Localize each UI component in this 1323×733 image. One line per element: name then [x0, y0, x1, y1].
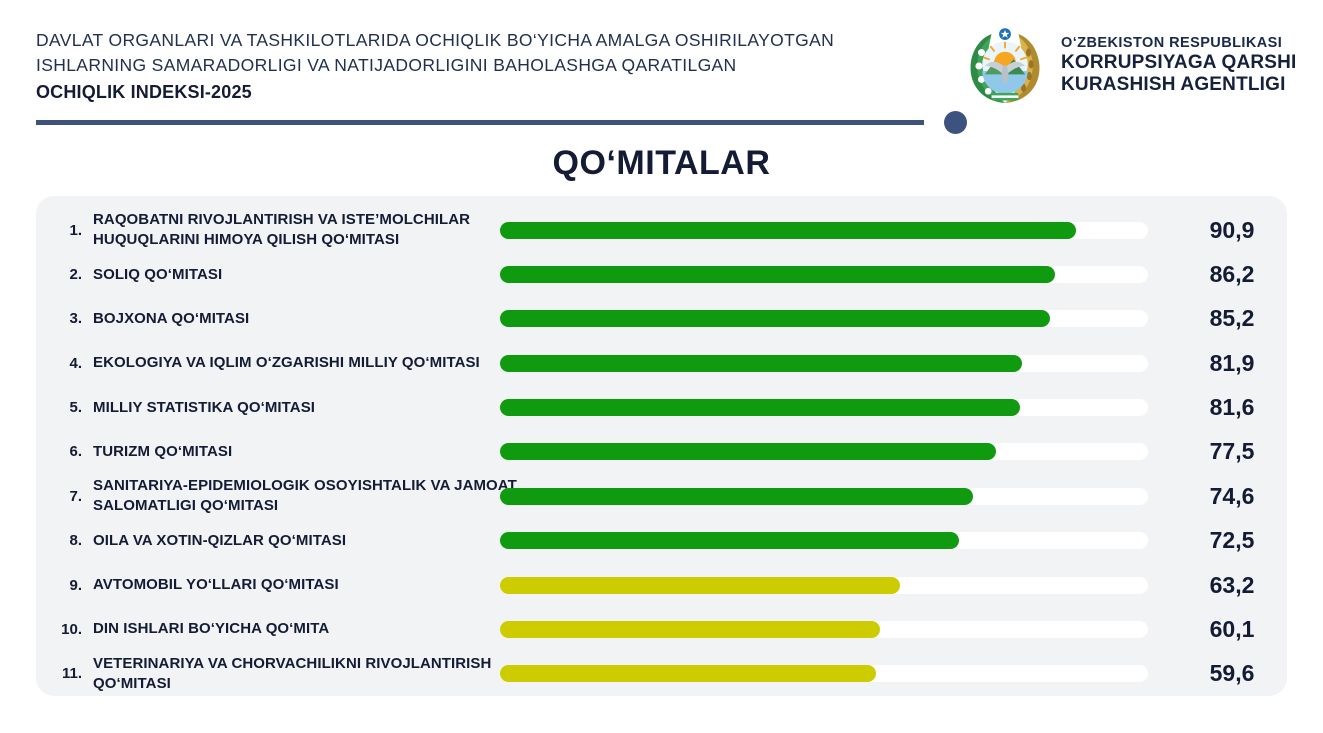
row-organization-label: TURIZM QO‘MITASI: [93, 442, 523, 462]
row-organization-label: MILLIY STATISTIKA QO‘MITASI: [93, 398, 523, 418]
row-bar-fill: [500, 488, 973, 505]
row-bar-track: [500, 577, 1148, 594]
row-score-value: 85,2: [1184, 305, 1280, 332]
header-line-3: OCHIQLIK INDEKSI-2025: [36, 80, 936, 105]
row-score-value: 77,5: [1184, 438, 1280, 465]
row-bar-track: [500, 621, 1148, 638]
row-bar-fill: [500, 222, 1076, 239]
ranking-row: 7.SANITARIYA-EPIDEMIOLOGIK OSOYISHTALIK …: [36, 474, 1287, 518]
row-score-value: 72,5: [1184, 527, 1280, 554]
ranking-panel: 1.RAQOBATNI RIVOJLANTIRISH VA ISTE’MOLCH…: [36, 196, 1287, 696]
row-bar-fill: [500, 532, 959, 549]
row-organization-label: EKOLOGIYA VA IQLIM O‘ZGARISHI MILLIY QO‘…: [93, 353, 523, 373]
ranking-row: 8.OILA VA XOTIN-QIZLAR QO‘MITASI72,5: [36, 519, 1287, 563]
agency-line-3: KURASHISH AGENTLIGI: [1061, 74, 1297, 96]
row-organization-label: DIN ISHLARI BO‘YICHA QO‘MITA: [93, 619, 523, 639]
ranking-row: 6.TURIZM QO‘MITASI77,5: [36, 430, 1287, 474]
page-title: QO‘MITALAR: [0, 144, 1323, 183]
agency-line-1: O‘ZBEKISTON RESPUBLIKASI: [1061, 35, 1297, 52]
row-organization-label: BOJXONA QO‘MITASI: [93, 309, 523, 329]
row-score-value: 81,9: [1184, 350, 1280, 377]
ranking-row: 2.SOLIQ QO‘MITASI86,2: [36, 252, 1287, 296]
row-bar-fill: [500, 399, 1020, 416]
row-bar-track: [500, 310, 1148, 327]
row-score-value: 63,2: [1184, 572, 1280, 599]
row-rank-number: 4.: [42, 355, 82, 372]
row-score-value: 74,6: [1184, 483, 1280, 510]
ranking-row: 9.AVTOMOBIL YO‘LLARI QO‘MITASI63,2: [36, 563, 1287, 607]
ranking-row: 5.MILLIY STATISTIKA QO‘MITASI81,6: [36, 385, 1287, 429]
page-header: DAVLAT ORGANLARI VA TASHKILOTLARIDA OCHI…: [0, 0, 1323, 140]
row-bar-track: [500, 355, 1148, 372]
row-bar-track: [500, 399, 1148, 416]
row-score-value: 90,9: [1184, 217, 1280, 244]
agency-name-block: O‘ZBEKISTON RESPUBLIKASI KORRUPSIYAGA QA…: [1061, 35, 1297, 96]
ranking-row: 4.EKOLOGIYA VA IQLIM O‘ZGARISHI MILLIY Q…: [36, 341, 1287, 385]
row-score-value: 86,2: [1184, 261, 1280, 288]
row-organization-label: VETERINARIYA VA CHORVACHILIKNI RIVOJLANT…: [93, 654, 523, 694]
agency-logo-block: O‘ZBEKISTON RESPUBLIKASI KORRUPSIYAGA QA…: [963, 24, 1297, 108]
ranking-row: 3.BOJXONA QO‘MITASI85,2: [36, 297, 1287, 341]
ranking-row: 10.DIN ISHLARI BO‘YICHA QO‘MITA60,1: [36, 607, 1287, 651]
row-rank-number: 9.: [42, 577, 82, 594]
header-rule-line: [36, 120, 924, 125]
row-bar-track: [500, 443, 1148, 460]
row-score-value: 81,6: [1184, 394, 1280, 421]
row-bar-fill: [500, 577, 900, 594]
header-line-1: DAVLAT ORGANLARI VA TASHKILOTLARIDA OCHI…: [36, 28, 936, 53]
agency-line-2: KORRUPSIYAGA QARSHI: [1061, 52, 1297, 74]
header-rule: [36, 111, 936, 135]
row-organization-label: SOLIQ QO‘MITASI: [93, 265, 523, 285]
row-rank-number: 11.: [42, 665, 82, 682]
row-organization-label: OILA VA XOTIN-QIZLAR QO‘MITASI: [93, 531, 523, 551]
row-score-value: 60,1: [1184, 616, 1280, 643]
row-bar-fill: [500, 665, 876, 682]
row-organization-label: AVTOMOBIL YO‘LLARI QO‘MITASI: [93, 575, 523, 595]
row-rank-number: 10.: [42, 621, 82, 638]
row-rank-number: 6.: [42, 443, 82, 460]
row-bar-track: [500, 488, 1148, 505]
row-rank-number: 8.: [42, 532, 82, 549]
row-bar-fill: [500, 310, 1050, 327]
row-organization-label: SANITARIYA-EPIDEMIOLOGIK OSOYISHTALIK VA…: [93, 476, 523, 516]
row-bar-track: [500, 532, 1148, 549]
ranking-row: 11.VETERINARIYA VA CHORVACHILIKNI RIVOJL…: [36, 652, 1287, 696]
ranking-rows: 1.RAQOBATNI RIVOJLANTIRISH VA ISTE’MOLCH…: [36, 196, 1287, 696]
header-line-2: ISHLARNING SAMARADORLIGI VA NATIJADORLIG…: [36, 53, 936, 78]
row-rank-number: 3.: [42, 310, 82, 327]
row-rank-number: 1.: [42, 222, 82, 239]
row-organization-label: RAQOBATNI RIVOJLANTIRISH VA ISTE’MOLCHIL…: [93, 210, 523, 250]
ranking-row: 1.RAQOBATNI RIVOJLANTIRISH VA ISTE’MOLCH…: [36, 208, 1287, 252]
row-bar-track: [500, 222, 1148, 239]
uzbekistan-coat-of-arms-icon: [963, 24, 1047, 108]
row-bar-track: [500, 665, 1148, 682]
header-title-block: DAVLAT ORGANLARI VA TASHKILOTLARIDA OCHI…: [36, 28, 936, 105]
row-bar-fill: [500, 443, 996, 460]
row-rank-number: 2.: [42, 266, 82, 283]
row-rank-number: 5.: [42, 399, 82, 416]
row-bar-track: [500, 266, 1148, 283]
header-rule-dot: [944, 111, 967, 134]
row-bar-fill: [500, 266, 1055, 283]
row-score-value: 59,6: [1184, 660, 1280, 687]
row-bar-fill: [500, 621, 880, 638]
row-rank-number: 7.: [42, 488, 82, 505]
row-bar-fill: [500, 355, 1022, 372]
